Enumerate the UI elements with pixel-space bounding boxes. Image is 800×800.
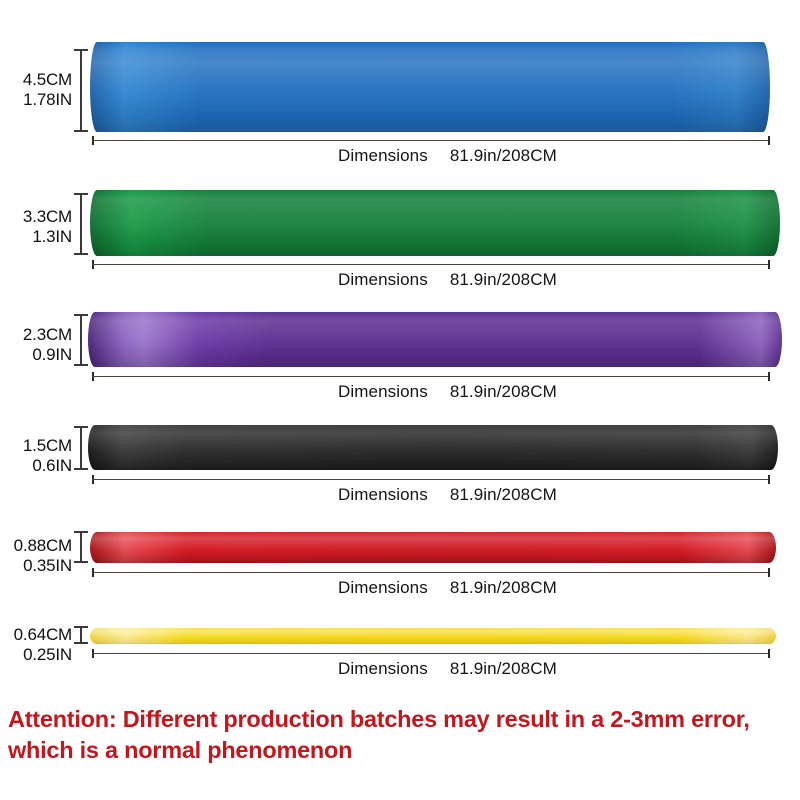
length-caption-purple: Dimensions81.9in/208CM (338, 382, 557, 402)
attention-line-1: Attention: Different production batches … (8, 704, 798, 735)
band-width-label-black: 1.5CM 0.6IN (23, 436, 72, 476)
band-width-in-blue: 1.78IN (23, 90, 72, 110)
length-caption-text-purple: Dimensions (338, 382, 428, 401)
length-caption-black: Dimensions81.9in/208CM (338, 485, 557, 505)
length-dimension-line-green (92, 260, 770, 269)
band-width-in-black: 0.6IN (23, 456, 72, 476)
length-caption-red: Dimensions81.9in/208CM (338, 578, 557, 598)
band-blue (90, 42, 770, 132)
caliper-serif-bottom-icon (74, 253, 88, 255)
width-caliper-purple (74, 314, 88, 366)
width-caliper-black (74, 426, 88, 470)
width-caliper-yellow (74, 626, 88, 644)
caliper-serif-bottom-icon (74, 468, 88, 470)
band-width-cm-blue: 4.5CM (23, 70, 72, 90)
length-rule-icon (92, 140, 770, 141)
band-width-label-red: 0.88CM 0.35IN (14, 536, 72, 576)
caliper-stem-icon (80, 314, 82, 366)
width-caliper-green (74, 193, 88, 255)
length-caption-value-black: 81.9in/208CM (450, 485, 557, 504)
length-dimension-line-purple (92, 372, 770, 381)
length-caption-value-purple: 81.9in/208CM (450, 382, 557, 401)
width-caliper-blue (74, 49, 88, 132)
length-caption-text-black: Dimensions (338, 485, 428, 504)
length-endtick-right-icon (768, 136, 770, 145)
length-endtick-right-icon (768, 568, 770, 577)
width-caliper-red (74, 531, 88, 563)
length-rule-icon (92, 376, 770, 377)
length-caption-text-red: Dimensions (338, 578, 428, 597)
band-width-cm-red: 0.88CM (14, 536, 72, 556)
length-caption-value-red: 81.9in/208CM (450, 578, 557, 597)
band-width-label-green: 3.3CM 1.3IN (23, 207, 72, 247)
caliper-serif-bottom-icon (74, 364, 88, 366)
length-rule-icon (92, 653, 770, 654)
attention-line-2: which is a normal phenomenon (8, 735, 798, 766)
attention-notice: Attention: Different production batches … (8, 704, 798, 767)
length-rule-icon (92, 572, 770, 573)
length-endtick-right-icon (768, 475, 770, 484)
length-caption-green: Dimensions81.9in/208CM (338, 270, 557, 290)
band-width-in-green: 1.3IN (23, 227, 72, 247)
length-caption-blue: Dimensions81.9in/208CM (338, 146, 557, 166)
band-yellow (90, 628, 776, 644)
caliper-stem-icon (80, 49, 82, 132)
length-caption-text-green: Dimensions (338, 270, 428, 289)
length-dimension-line-blue (92, 136, 770, 145)
length-dimension-line-black (92, 475, 770, 484)
length-dimension-line-red (92, 568, 770, 577)
band-width-cm-purple: 2.3CM (23, 325, 72, 345)
band-width-in-yellow: 0.25IN (14, 645, 72, 665)
caliper-serif-bottom-icon (74, 130, 88, 132)
band-purple (88, 312, 782, 367)
length-caption-text-blue: Dimensions (338, 146, 428, 165)
length-caption-text-yellow: Dimensions (338, 659, 428, 678)
band-width-label-purple: 2.3CM 0.9IN (23, 325, 72, 365)
length-endtick-right-icon (768, 260, 770, 269)
length-caption-value-green: 81.9in/208CM (450, 270, 557, 289)
length-rule-icon (92, 479, 770, 480)
band-width-label-blue: 4.5CM 1.78IN (23, 70, 72, 110)
band-width-label-yellow: 0.64CM 0.25IN (14, 625, 72, 665)
length-endtick-right-icon (768, 372, 770, 381)
length-caption-yellow: Dimensions81.9in/208CM (338, 659, 557, 679)
length-caption-value-blue: 81.9in/208CM (450, 146, 557, 165)
band-width-cm-green: 3.3CM (23, 207, 72, 227)
caliper-stem-icon (80, 193, 82, 255)
length-caption-value-yellow: 81.9in/208CM (450, 659, 557, 678)
resistance-band-dimensions-diagram: 4.5CM 1.78IN Dimensions81.9in/208CM 3.3C… (0, 0, 800, 800)
length-rule-icon (92, 264, 770, 265)
caliper-stem-icon (80, 531, 82, 563)
caliper-serif-bottom-icon (74, 561, 88, 563)
band-width-cm-yellow: 0.64CM (14, 625, 72, 645)
band-black (88, 425, 778, 470)
band-width-cm-black: 1.5CM (23, 436, 72, 456)
length-endtick-right-icon (768, 649, 770, 658)
length-dimension-line-yellow (92, 649, 770, 658)
caliper-stem-icon (80, 426, 82, 470)
band-width-in-purple: 0.9IN (23, 345, 72, 365)
caliper-serif-bottom-icon (74, 642, 88, 644)
band-red (90, 532, 776, 563)
band-width-in-red: 0.35IN (14, 556, 72, 576)
band-green (90, 190, 780, 256)
